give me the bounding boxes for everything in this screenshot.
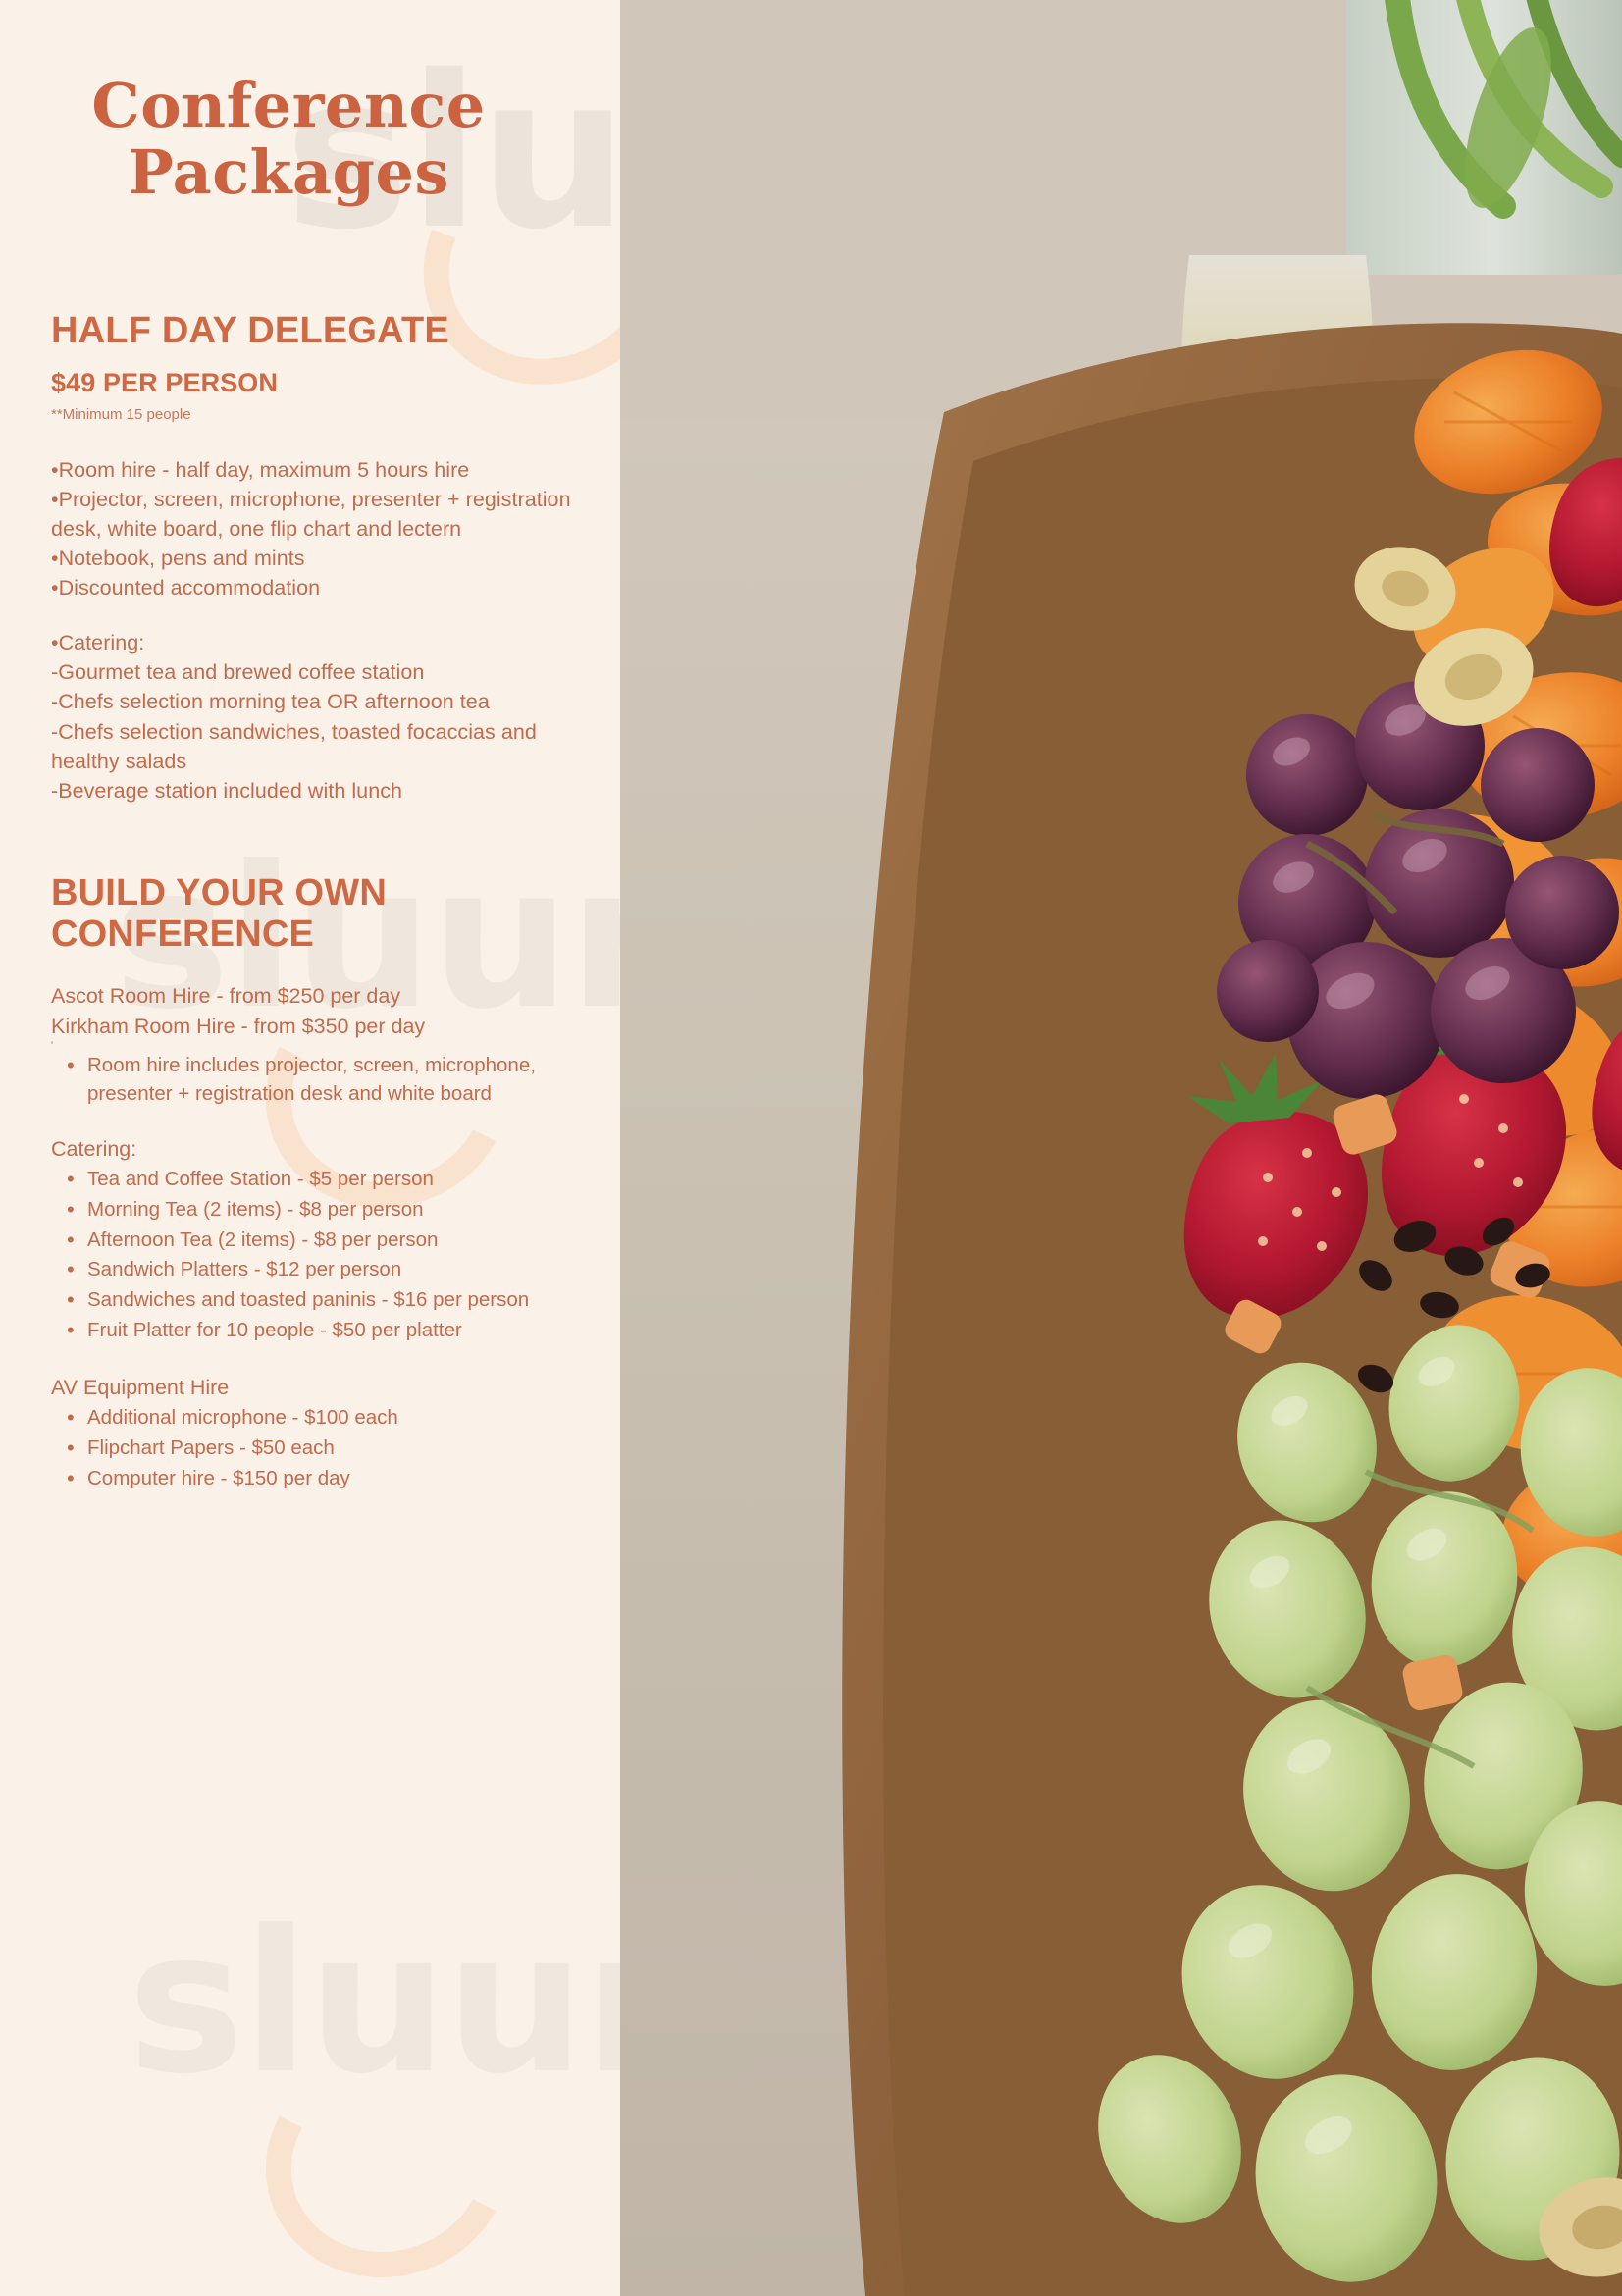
- catering-line: -Gourmet tea and brewed coffee station: [51, 657, 591, 687]
- av-equipment-list: Additional microphone - $100 each Flipch…: [51, 1404, 591, 1492]
- half-day-price: $49 PER PERSON: [51, 368, 591, 398]
- watermark-sluurpy-bottom: sluurpy: [128, 1889, 620, 2117]
- list-item: Tea and Coffee Station - $5 per person: [51, 1166, 591, 1194]
- list-item: Sandwich Platters - $12 per person: [51, 1256, 591, 1284]
- catering-line: -Chefs selection morning tea OR afternoo…: [51, 687, 591, 716]
- half-day-catering: •Catering: -Gourmet tea and brewed coffe…: [51, 628, 591, 806]
- inclusion-line: •Room hire - half day, maximum 5 hours h…: [51, 455, 591, 485]
- catering-price-list: Tea and Coffee Station - $5 per person M…: [51, 1166, 591, 1344]
- half-day-inclusions: •Room hire - half day, maximum 5 hours h…: [51, 455, 591, 602]
- room-hire-note-line-two: presenter + registration desk and white …: [87, 1080, 591, 1109]
- fruit-platter-photo: [620, 0, 1622, 2296]
- list-item: Afternoon Tea (2 items) - $8 per person: [51, 1226, 591, 1255]
- catering-label: •Catering:: [51, 628, 591, 657]
- room-hire-block: Ascot Room Hire - from $250 per day Kirk…: [51, 981, 591, 1108]
- half-day-heading: HALF DAY DELEGATE: [51, 310, 591, 352]
- build-heading-line-one: BUILD YOUR OWN: [51, 872, 387, 913]
- watermark-swish-bottom: [236, 2018, 540, 2296]
- room-hire-line: Kirkham Room Hire - from $350 per day: [51, 1012, 591, 1042]
- room-hire-line: Ascot Room Hire - from $250 per day: [51, 981, 591, 1012]
- list-item: Sandwiches and toasted paninis - $16 per…: [51, 1286, 591, 1315]
- build-heading-line-two: CONFERENCE: [51, 913, 314, 955]
- catering-line: -Chefs selection sandwiches, toasted foc…: [51, 717, 591, 747]
- page-title: Conference Packages: [51, 0, 591, 202]
- inclusion-line: •Discounted accommodation: [51, 573, 591, 602]
- catering-line: healthy salads: [51, 747, 591, 776]
- list-item: Flipchart Papers - $50 each: [51, 1435, 591, 1463]
- inclusion-line: desk, white board, one flip chart and le…: [51, 514, 591, 544]
- left-text-panel: sluurpy sluurpy sluurpy Conference Packa…: [0, 0, 620, 2296]
- list-item: Fruit Platter for 10 people - $50 per pl…: [51, 1317, 591, 1345]
- list-item: Room hire includes projector, screen, mi…: [51, 1052, 591, 1108]
- list-item: Additional microphone - $100 each: [51, 1404, 591, 1433]
- room-hire-note-line-one: Room hire includes projector, screen, mi…: [87, 1054, 536, 1076]
- list-item: Computer hire - $150 per day: [51, 1465, 591, 1493]
- catering-line: -Beverage station included with lunch: [51, 776, 591, 806]
- inclusion-line: •Projector, screen, microphone, presente…: [51, 485, 591, 514]
- half-day-minimum-note: **Minimum 15 people: [51, 406, 591, 423]
- stray-mark: ': [51, 1043, 591, 1050]
- menu-page: sluurpy sluurpy sluurpy Conference Packa…: [0, 0, 1622, 2296]
- catering-heading: Catering:: [51, 1137, 591, 1162]
- room-hire-inclusions: Room hire includes projector, screen, mi…: [51, 1052, 591, 1108]
- list-item: Morning Tea (2 items) - $8 per person: [51, 1196, 591, 1225]
- title-line-two: Packages: [51, 143, 526, 202]
- inclusion-line: •Notebook, pens and mints: [51, 544, 591, 573]
- panel-content: Conference Packages HALF DAY DELEGATE $4…: [0, 0, 620, 1493]
- av-equipment-heading: AV Equipment Hire: [51, 1376, 591, 1400]
- title-line-one: Conference: [51, 77, 526, 135]
- spacer: [51, 602, 591, 628]
- build-your-own-heading: BUILD YOUR OWN CONFERENCE: [51, 872, 591, 956]
